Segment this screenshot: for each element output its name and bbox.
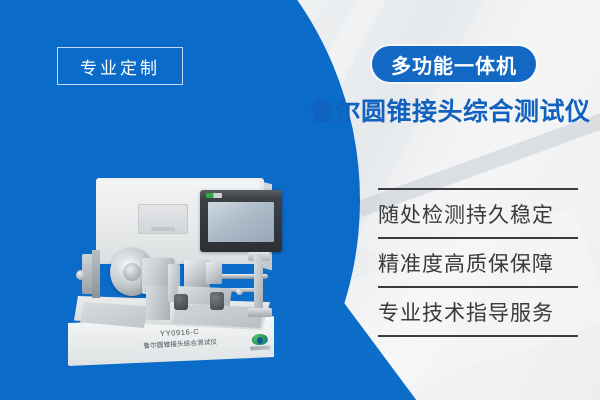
page-title: 鲁尔圆锥接头综合测试仪 xyxy=(310,92,595,128)
machine-left-arm-secondary xyxy=(92,250,100,298)
feature-label: 专业技术指导服务 xyxy=(378,288,578,335)
custom-made-badge: 专业定制 xyxy=(57,47,183,85)
machine-adjust-knob xyxy=(236,288,243,295)
manufacturer-logo-wordmark xyxy=(250,345,270,350)
hmi-touchscreen xyxy=(200,190,282,252)
machine-vertical-post xyxy=(254,254,263,316)
multifunction-pill-label: 多功能一体机 xyxy=(391,50,517,79)
feature-label: 随处检测持久稳定 xyxy=(378,190,578,237)
hmi-screen-display xyxy=(208,202,274,242)
product-photo-tester-machine: YY0916-C 鲁尔圆锥接头综合测试仪 xyxy=(68,178,290,378)
product-banner: 专业定制 多功能一体机 鲁尔圆锥接头综合测试仪 随处检测持久稳定 精准度高质保保… xyxy=(0,0,600,400)
machine-clamp-right xyxy=(206,262,222,284)
multifunction-pill-badge: 多功能一体机 xyxy=(372,46,536,82)
manufacturer-logo-icon xyxy=(252,334,269,346)
machine-post-base-bracket xyxy=(248,308,272,317)
feature-item: 专业技术指导服务 xyxy=(378,286,578,337)
feature-item: 随处检测持久稳定 xyxy=(378,188,578,237)
feature-label: 精准度高质保保障 xyxy=(378,239,578,286)
feature-item: 精准度高质保保障 xyxy=(378,237,578,286)
machine-manufacturer-logo xyxy=(250,333,271,352)
feature-list: 随处检测持久稳定 精准度高质保保障 专业技术指导服务 xyxy=(378,188,578,337)
custom-made-badge-label: 专业定制 xyxy=(80,54,160,79)
machine-wheel-stand xyxy=(146,286,170,320)
machine-left-knob xyxy=(76,270,86,280)
hmi-brand-logo-icon xyxy=(206,193,222,198)
machine-dark-roller-left xyxy=(174,294,188,310)
machine-dark-roller-right xyxy=(210,292,224,310)
machine-panel-recess xyxy=(138,204,188,234)
